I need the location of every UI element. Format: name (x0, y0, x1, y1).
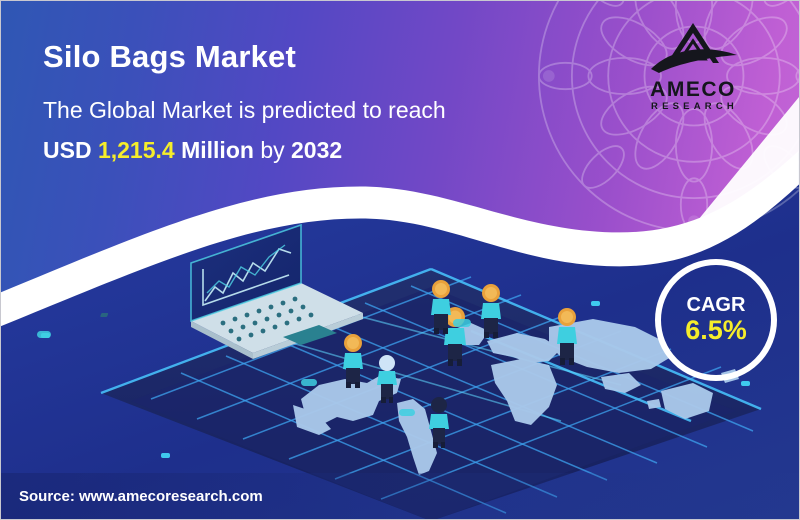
value-year: 2032 (291, 137, 342, 163)
value-connector: by (260, 137, 284, 163)
cagr-badge: CAGR 6.5% (655, 259, 777, 381)
cagr-label: CAGR (687, 295, 746, 316)
ameco-triangle-icon (645, 19, 741, 81)
figure (431, 280, 451, 334)
infographic-canvas: Silo Bags Market The Global Market is pr… (0, 0, 800, 520)
logo-name: AMECO (629, 79, 757, 100)
value-prefix: USD (43, 137, 92, 163)
page-title: Silo Bags Market (43, 39, 296, 75)
value-unit: Million (181, 137, 254, 163)
source-text: Source: www.amecoresearch.com (19, 488, 263, 505)
figure (343, 334, 363, 388)
market-value: 1,215.4 (98, 137, 175, 163)
figure (557, 308, 577, 365)
subtitle-line-1: The Global Market is predicted to reach (43, 99, 446, 122)
logo-subtitle: RESEARCH (632, 102, 757, 112)
figure (481, 284, 501, 338)
subtitle-line-2: USD 1,215.4 Million by 2032 (43, 139, 342, 162)
brand-logo[interactable]: AMECO RESEARCH (629, 19, 757, 112)
cagr-value: 6.5% (685, 316, 747, 346)
